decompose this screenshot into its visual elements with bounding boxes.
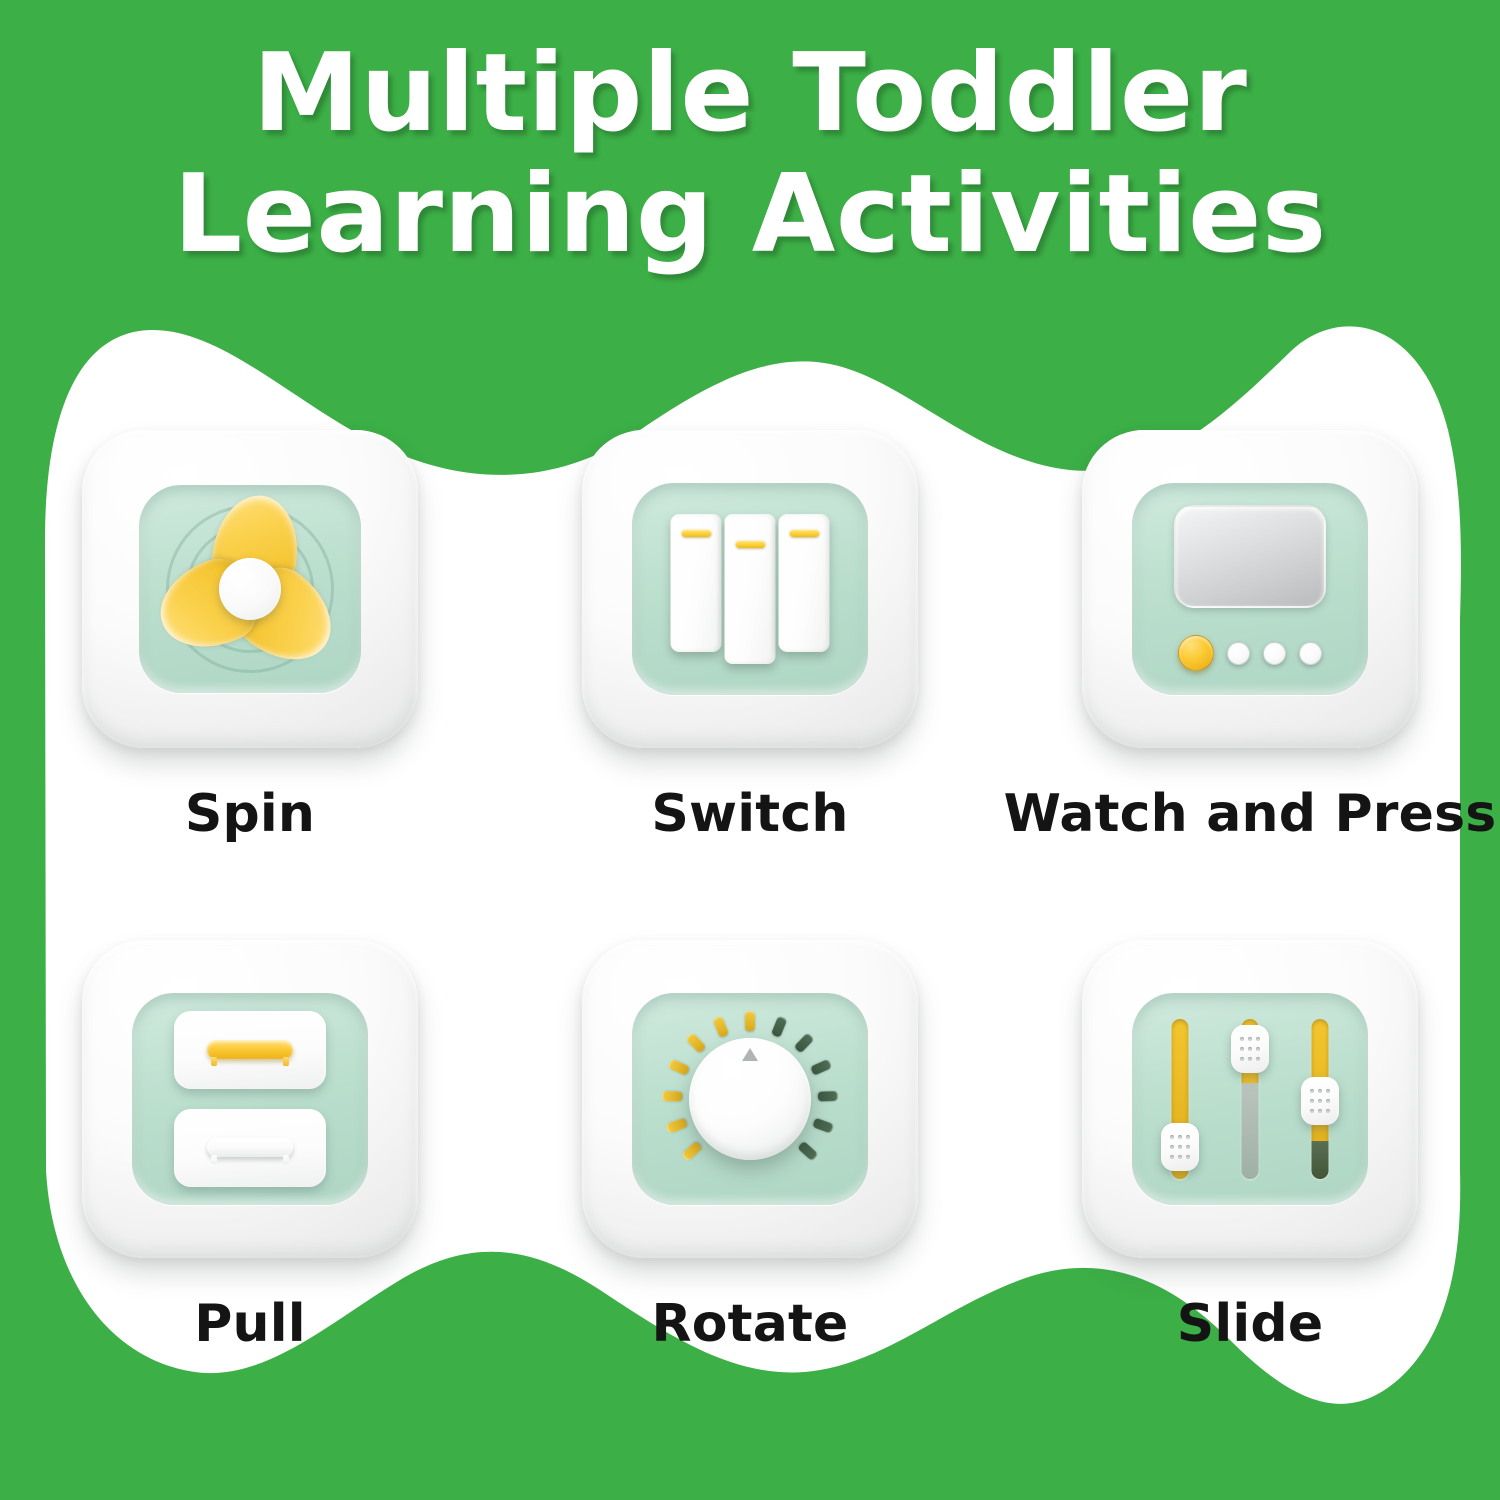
activity-grid: Spin — [0, 430, 1500, 1450]
vertical-slider-icon[interactable] — [1082, 940, 1418, 1258]
rocker-switch-left[interactable] — [671, 514, 722, 652]
infographic-canvas: Multiple Toddler Learning Activities — [0, 0, 1500, 1500]
dial-tick — [668, 1059, 690, 1076]
slider-middle[interactable] — [1239, 1019, 1261, 1179]
dial-tick — [662, 1091, 682, 1102]
tv-button-row — [1178, 635, 1322, 671]
tv-display-screen — [1174, 505, 1326, 608]
dial-assembly — [652, 1001, 848, 1197]
slide-inset-panel — [1132, 993, 1368, 1205]
tv-button-white-2[interactable] — [1263, 642, 1286, 665]
fan-hub-icon — [219, 558, 281, 620]
caption-switch: Switch — [651, 784, 848, 844]
drawer-handle-icon[interactable] — [82, 940, 418, 1258]
tv-button-white-1[interactable] — [1227, 642, 1250, 665]
rocker-switch-icon[interactable] — [582, 430, 918, 748]
rotary-knob-icon[interactable] — [582, 940, 918, 1258]
dial-tick — [812, 1118, 834, 1134]
activity-cell-spin[interactable]: Spin — [0, 430, 500, 940]
dial-tick — [712, 1016, 729, 1038]
dial-tick — [794, 1032, 815, 1053]
activity-cell-pull[interactable]: Pull — [0, 940, 500, 1450]
activity-cell-slide[interactable]: Slide — [1000, 940, 1500, 1450]
slider-left[interactable] — [1169, 1019, 1191, 1179]
caption-pull: Pull — [194, 1294, 306, 1354]
dial-tick — [666, 1118, 688, 1134]
activity-cell-watch-and-press[interactable]: Watch and Press — [1000, 430, 1500, 940]
rotate-inset-panel — [632, 993, 868, 1205]
slider-knob-middle[interactable] — [1231, 1025, 1269, 1073]
rocker-switch-middle[interactable] — [725, 514, 776, 664]
dial-tick — [745, 1011, 755, 1031]
slider-knob-left[interactable] — [1161, 1123, 1199, 1171]
rocker-group — [671, 514, 830, 664]
dial-tick — [771, 1016, 788, 1038]
slider-right[interactable] — [1309, 1019, 1331, 1179]
tv-inset-panel — [1132, 483, 1368, 695]
switch-inset-panel — [632, 483, 868, 695]
title-line-1: Multiple Toddler — [0, 34, 1500, 155]
knob-pointer-icon — [742, 1048, 758, 1061]
tv-button-white-3[interactable] — [1299, 642, 1322, 665]
activity-cell-switch[interactable]: Switch — [500, 430, 1000, 940]
handle-white-icon[interactable] — [207, 1138, 293, 1157]
tv-screen-icon[interactable] — [1082, 430, 1418, 748]
fan-icon[interactable] — [82, 430, 418, 748]
fan-blades-group — [155, 494, 345, 684]
page-title: Multiple Toddler Learning Activities — [0, 34, 1500, 276]
rotary-knob-body[interactable] — [689, 1038, 811, 1160]
caption-watch-and-press: Watch and Press — [1004, 784, 1497, 844]
dial-tick — [797, 1141, 819, 1162]
slider-knob-right[interactable] — [1301, 1077, 1339, 1125]
dial-tick — [810, 1059, 832, 1076]
caption-spin: Spin — [185, 784, 315, 844]
handle-yellow-icon[interactable] — [207, 1040, 293, 1059]
drawer-top[interactable] — [174, 1011, 326, 1089]
led-indicator-icon — [735, 540, 765, 548]
dial-tick — [685, 1032, 706, 1053]
title-line-2: Learning Activities — [0, 155, 1500, 276]
pull-inset-panel — [132, 993, 368, 1205]
rocker-switch-right[interactable] — [779, 514, 830, 652]
tv-button-yellow[interactable] — [1178, 635, 1214, 671]
drawer-bottom[interactable] — [174, 1109, 326, 1187]
led-indicator-icon — [681, 529, 711, 537]
activity-cell-rotate[interactable]: Rotate — [500, 940, 1000, 1450]
slider-group — [1165, 1019, 1335, 1179]
fan-inset-panel — [139, 485, 361, 693]
dial-tick — [681, 1141, 703, 1162]
dial-tick — [818, 1091, 838, 1102]
led-indicator-icon — [789, 529, 819, 537]
caption-rotate: Rotate — [651, 1294, 848, 1354]
caption-slide: Slide — [1177, 1294, 1324, 1354]
